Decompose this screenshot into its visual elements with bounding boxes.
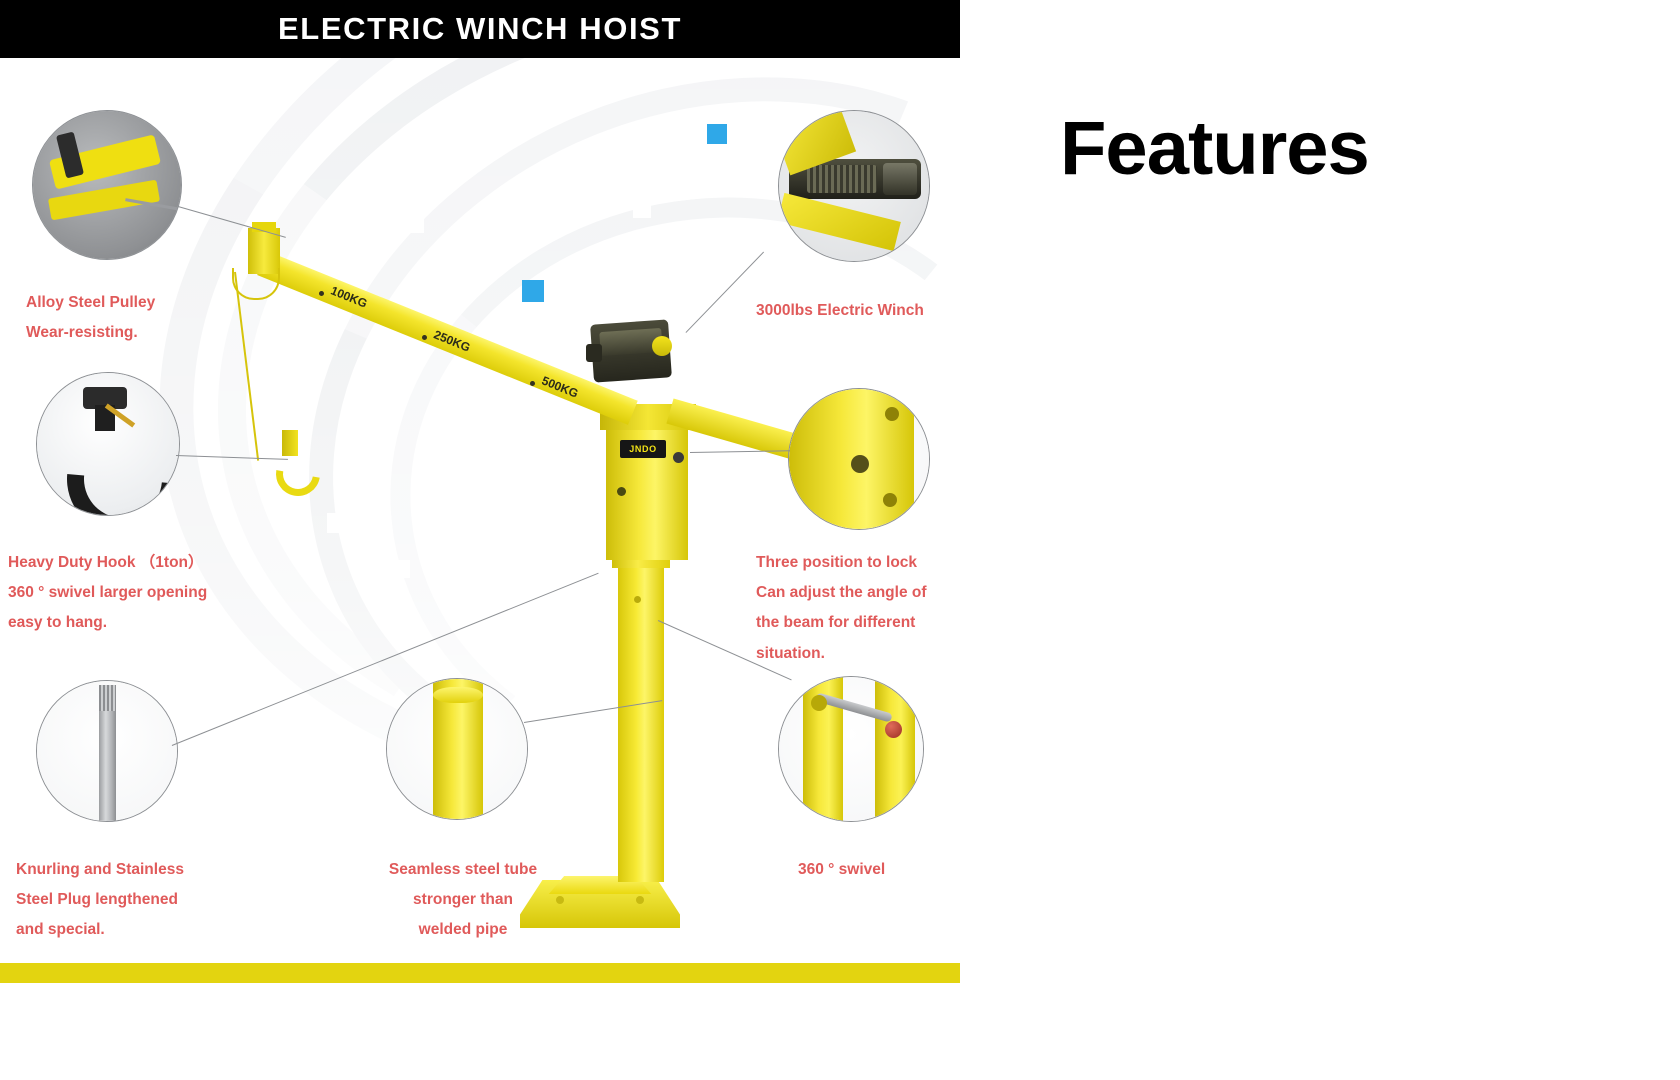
lock-hole-1: [885, 407, 899, 421]
detail-circle-360-swivel: [778, 676, 924, 822]
crane-mast-column: [618, 560, 664, 882]
boom-marking-dot: [319, 291, 324, 296]
boom-marking-dot: [530, 381, 535, 386]
callout-electric-winch: 3000lbs Electric Winch: [756, 296, 960, 326]
detail-circle-electric-winch: [778, 110, 930, 262]
callout-heavy-duty-hook: Heavy Duty Hook （1ton） 360 ° swivel larg…: [8, 548, 298, 639]
detail-circle-alloy-steel-pulley: [32, 110, 182, 260]
callout-three-position-lock: Three position to lock Can adjust the an…: [756, 548, 960, 669]
callout-360-swivel: 360 ° swivel: [798, 855, 958, 885]
detail-circle-knurling-steel-plug: [36, 680, 178, 822]
swivel-bolt: [673, 452, 684, 463]
winch-gearbox: [883, 163, 917, 195]
title-bar-text: ELECTRIC WINCH HOIST: [0, 0, 960, 58]
swivel-bolt: [617, 487, 626, 496]
features-panel: Features: [960, 0, 1680, 1080]
boom-marking-dot: [422, 335, 427, 340]
winch-end-cap: [652, 336, 672, 356]
base-bolt-hole: [636, 896, 644, 904]
winch-control-box: [586, 344, 602, 362]
swivel-pin-hole: [811, 695, 827, 711]
product-infographic-panel: JNDO 100KG 250KG 500KG: [0, 0, 960, 1000]
bottom-accent-bar: [0, 963, 960, 983]
hook-curve: [267, 443, 328, 504]
detail-circle-three-position-lock: [788, 388, 930, 530]
winch-base-bracket: [778, 193, 901, 251]
lock-pin: [851, 455, 869, 473]
detail-circle-heavy-duty-hook: [36, 372, 180, 516]
brand-plate: JNDO: [620, 440, 666, 458]
steel-tube-top-rim: [433, 687, 483, 703]
lock-hole-2: [883, 493, 897, 507]
title-bar: ELECTRIC WINCH HOIST: [0, 0, 960, 58]
features-heading: Features: [1060, 105, 1369, 192]
brand-plate-label: JNDO: [629, 444, 656, 454]
swivel-lever-knob: [885, 721, 902, 738]
callout-knurling-steel-plug: Knurling and Stainless Steel Plug length…: [16, 855, 276, 946]
callout-seamless-steel-tube: Seamless steel tube stronger than welded…: [358, 855, 568, 946]
mast-pin-hole: [634, 596, 641, 603]
detail-circle-seamless-steel-tube: [386, 678, 528, 820]
knurling-texture: [99, 685, 116, 711]
swivel-post-right: [875, 677, 915, 821]
callout-alloy-steel-pulley: Alloy Steel Pulley Wear-resisting.: [26, 288, 276, 348]
winch-drum-detail: [807, 165, 877, 193]
